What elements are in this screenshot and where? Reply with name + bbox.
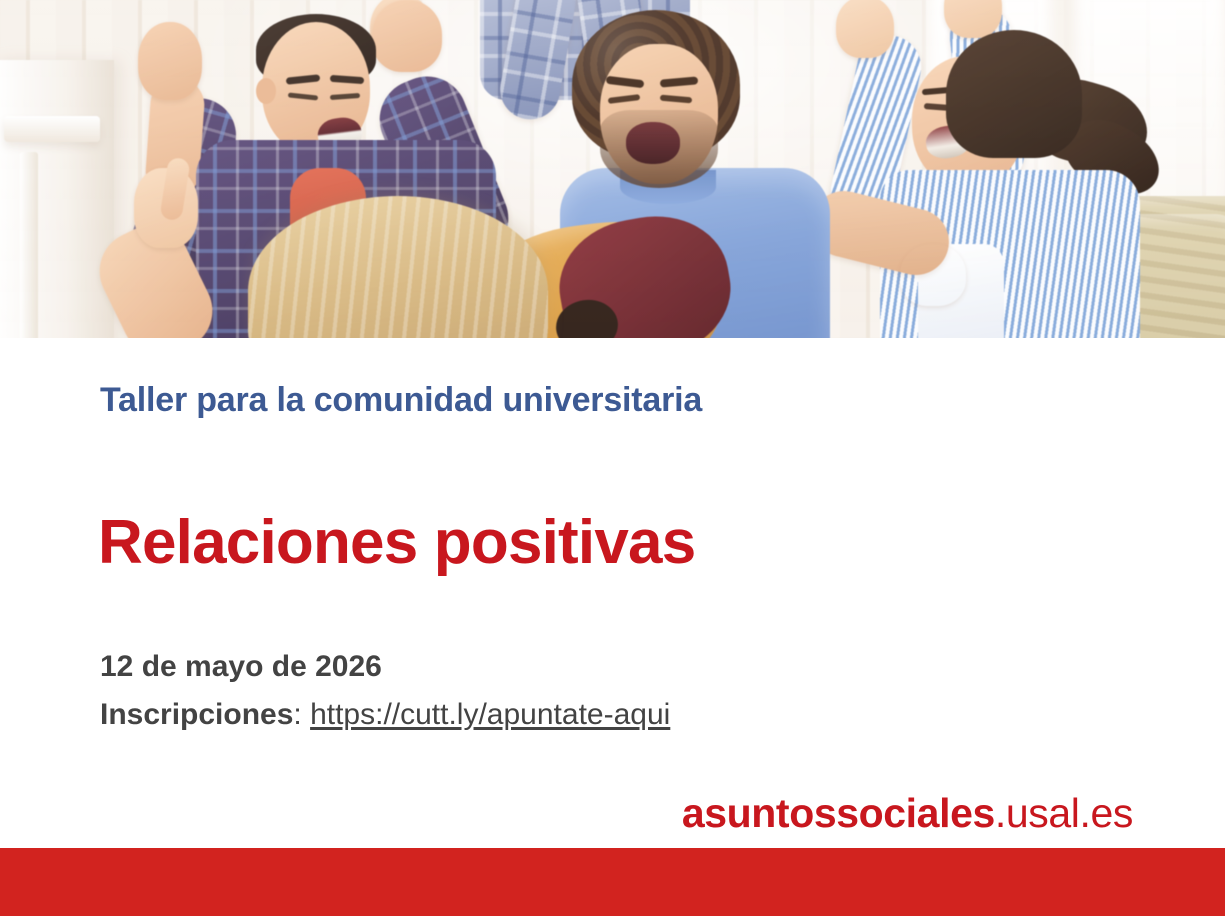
signup-separator: : [293, 698, 310, 731]
signup-row: Inscripciones: https://cutt.ly/apuntate-… [100, 691, 670, 739]
person-left-ear [256, 78, 276, 104]
photo-illustration [0, 0, 1225, 338]
kicker-text: Taller para la comunidad universitaria [100, 381, 702, 420]
content-area: Taller para la comunidad universitaria R… [0, 338, 1225, 848]
hero-photo [0, 0, 1225, 338]
website-name: asuntossociales [682, 790, 995, 836]
person-left-hand-right [372, 0, 442, 72]
website-domain: .usal.es [995, 790, 1133, 836]
poster-root: Taller para la comunidad universitaria R… [0, 0, 1225, 916]
fireplace-mantel [0, 60, 114, 338]
event-date: 12 de mayo de 2026 [100, 643, 670, 691]
person-singer-mouth [626, 122, 680, 164]
signup-link[interactable]: https://cutt.ly/apuntate-aqui [310, 698, 670, 731]
person-left-hand [138, 22, 202, 100]
page-title: Relaciones positivas [98, 507, 695, 578]
footer-red-bar [0, 848, 1225, 916]
person-singer-strumming-hand [900, 244, 966, 306]
website-wordmark: asuntossociales.usal.es [682, 790, 1133, 837]
person-girl-hair [946, 30, 1082, 158]
signup-label: Inscripciones [100, 698, 293, 731]
person-girl-hand-left [836, 0, 894, 58]
event-details: 12 de mayo de 2026 Inscripciones: https:… [100, 643, 670, 739]
